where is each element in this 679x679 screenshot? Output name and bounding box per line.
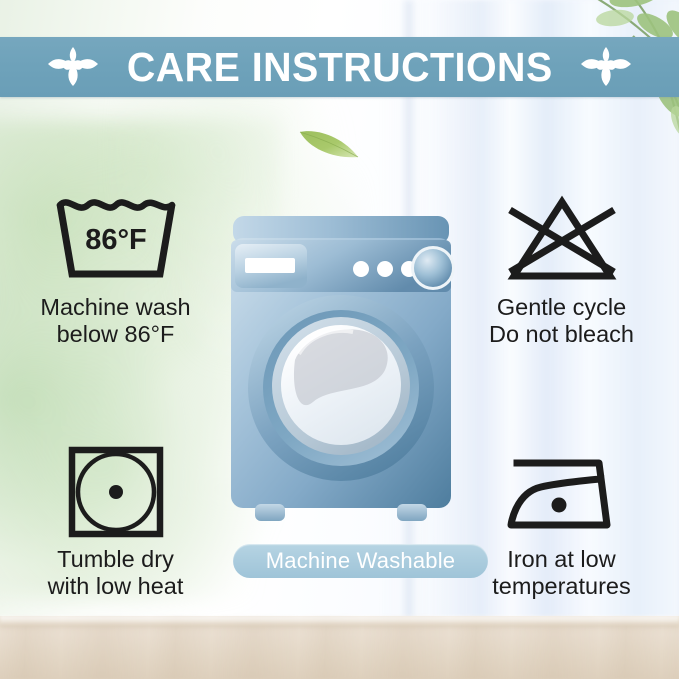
washer-foot-right — [397, 504, 427, 521]
machine-washable-badge: Machine Washable — [233, 544, 488, 578]
caption-line-1: Iron at low — [492, 546, 630, 573]
caption-iron: Iron at low temperatures — [492, 546, 630, 601]
caption-line-2: temperatures — [492, 573, 630, 600]
care-symbol-iron: Iron at low temperatures — [454, 444, 669, 601]
caption-tumble-dry: Tumble dry with low heat — [48, 546, 184, 601]
page-title: CARE INSTRUCTIONS — [127, 47, 553, 88]
wash-tub-symbol: 86°F — [52, 192, 180, 288]
caption-line-1: Tumble dry — [48, 546, 184, 573]
machine-washable-label: Machine Washable — [266, 548, 455, 574]
caption-line-2: Do not bleach — [489, 321, 634, 348]
wash-temperature-label: 86°F — [85, 224, 147, 256]
caption-line-1: Gentle cycle — [489, 294, 634, 321]
care-symbol-do-not-bleach: Gentle cycle Do not bleach — [454, 192, 669, 349]
caption-do-not-bleach: Gentle cycle Do not bleach — [489, 294, 634, 349]
do-not-bleach-symbol — [502, 192, 622, 288]
washer-indicator-dot-1 — [353, 261, 369, 277]
background-table-edge — [0, 616, 679, 627]
iron-symbol — [501, 444, 623, 540]
iron-icon — [501, 447, 623, 537]
fleur-de-lis-left-icon — [46, 44, 100, 90]
caption-line-2: below 86°F — [40, 321, 190, 348]
care-instructions-infographic: CARE INSTRUCTIONS 86°F Machine wash belo… — [0, 0, 679, 679]
washer-drawer-slot — [245, 258, 295, 273]
fleur-de-lis-right-icon — [579, 44, 633, 90]
wash-tub-icon: 86°F — [52, 194, 180, 286]
washing-machine-illustration — [227, 212, 455, 542]
care-symbol-machine-wash: 86°F Machine wash below 86°F — [8, 192, 223, 349]
washer-dial[interactable] — [414, 249, 452, 287]
tumble-dry-symbol — [66, 444, 166, 540]
caption-machine-wash: Machine wash below 86°F — [40, 294, 190, 349]
washer-indicator-dot-2 — [377, 261, 393, 277]
header-banner: CARE INSTRUCTIONS — [0, 37, 679, 97]
caption-line-2: with low heat — [48, 573, 184, 600]
caption-line-1: Machine wash — [40, 294, 190, 321]
triangle-crossed-icon — [502, 194, 622, 286]
care-symbol-tumble-dry: Tumble dry with low heat — [8, 444, 223, 601]
washer-foot-left — [255, 504, 285, 521]
tumble-dry-square-icon — [66, 444, 166, 540]
